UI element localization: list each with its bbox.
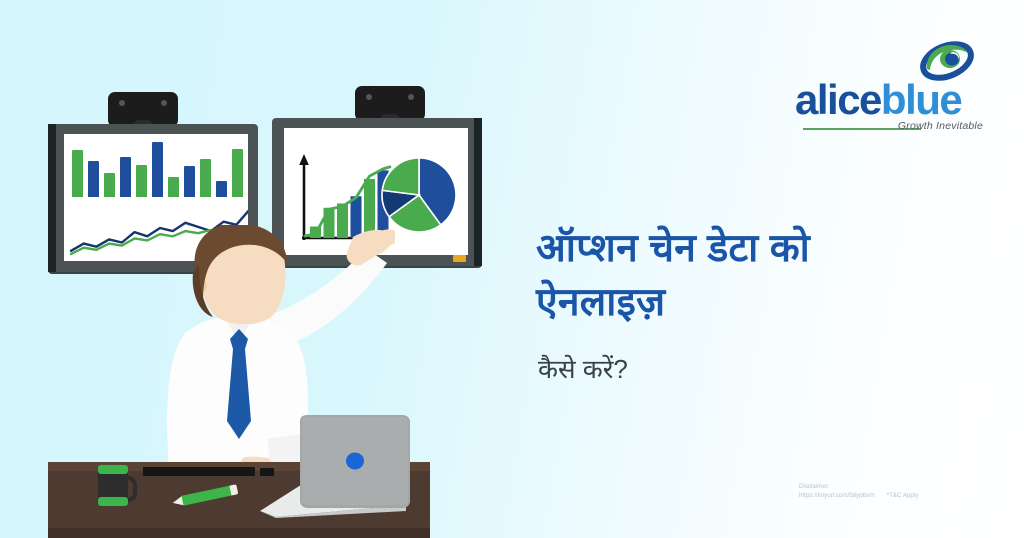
bar-8 xyxy=(184,166,195,197)
right-monitor-edge xyxy=(474,118,482,266)
aliceblue-logo[interactable]: aliceblue Growth Inevitable xyxy=(795,38,985,133)
left-monitor-edge xyxy=(48,124,56,272)
mug-base xyxy=(98,497,128,506)
right-screen-pie-chart xyxy=(380,156,458,234)
bar-5 xyxy=(136,165,147,197)
bar-3 xyxy=(104,173,115,197)
logo-word-blue: blue xyxy=(881,76,961,123)
right-monitor-power-led xyxy=(453,255,466,262)
left-screen-bar-chart xyxy=(72,137,244,197)
bar-6 xyxy=(152,142,163,197)
bar-1 xyxy=(72,150,83,197)
bar-11 xyxy=(232,149,243,197)
bar-9 xyxy=(200,159,211,197)
desk-pen-bar xyxy=(143,467,255,476)
logo-wordmark: aliceblue xyxy=(795,80,985,120)
page-title: ऑप्शन चेन डेटा को ऐनलाइज़ xyxy=(536,222,1006,330)
disclaimer: Disclaimer: https://tinyurl.com/58ypbsrh… xyxy=(799,483,999,500)
laptop-brand-circle-icon xyxy=(346,453,364,470)
desk-shadow xyxy=(48,528,430,538)
bar-10 xyxy=(216,181,227,197)
poster-canvas: aliceblue Growth Inevitable ऑप्शन चेन डे… xyxy=(0,0,1024,538)
pie-slice-segment-green-bottom xyxy=(382,158,419,195)
mount-bolt-left xyxy=(119,100,125,106)
bar-7 xyxy=(168,177,179,197)
disclaimer-url[interactable]: https://tinyurl.com/58ypbsrh xyxy=(799,492,875,501)
right-monitor-mount xyxy=(355,86,425,121)
mount-bolt-right xyxy=(161,100,167,106)
page-subtitle: कैसे करें? xyxy=(538,352,628,386)
page-title-line2: ऐनलाइज़ xyxy=(536,276,1006,330)
terms-conditions-note: *T&C Apply xyxy=(887,492,919,501)
coffee-mug xyxy=(98,462,128,504)
logo-word-alice: alice xyxy=(795,76,881,123)
disclaimer-label: Disclaimer: xyxy=(799,483,999,492)
logo-tagline: Growth Inevitable xyxy=(898,120,983,132)
page-title-line1: ऑप्शन चेन डेटा को xyxy=(536,222,1006,276)
mount-bolt-left xyxy=(366,94,372,100)
left-monitor-mount xyxy=(108,92,178,127)
mount-bolt-right xyxy=(408,94,414,100)
bar-2 xyxy=(88,161,99,197)
laptop xyxy=(256,413,416,518)
mug-lip xyxy=(98,465,128,474)
bar-4 xyxy=(120,157,131,197)
